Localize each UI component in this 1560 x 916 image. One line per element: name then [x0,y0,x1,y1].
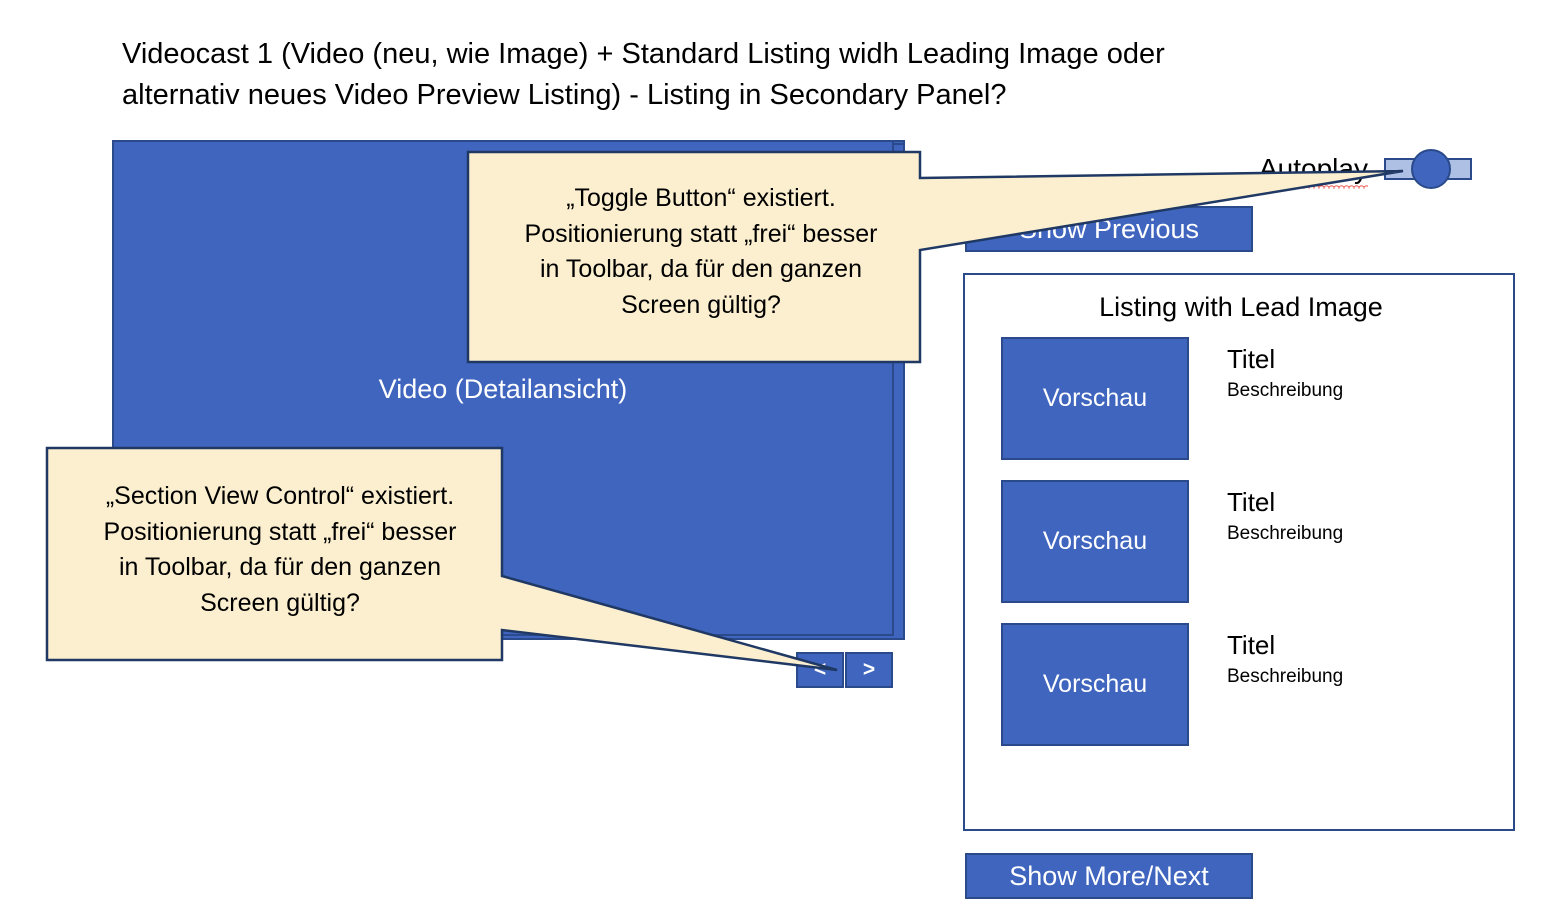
spellcheck-squiggle-icon [1259,184,1368,189]
listing-rows: Vorschau Titel Beschreibung Vorschau Tit… [1001,337,1501,766]
autoplay-label: Autoplay [1259,153,1368,185]
lead-image-thumbnail[interactable]: Vorschau [1001,623,1189,746]
video-panel-label: Video (Detailansicht) [112,374,894,405]
next-button[interactable]: > [845,652,893,688]
listing-panel: Listing with Lead Image Vorschau Titel B… [963,273,1515,831]
show-previous-button[interactable]: Show Previous [965,206,1253,252]
list-item[interactable]: Vorschau Titel Beschreibung [1001,623,1501,746]
callout-toggle-button-text: „Toggle Button“ existiert. Positionierun… [482,181,920,323]
list-item-description: Beschreibung [1227,666,1343,688]
list-item-text: Titel Beschreibung [1227,337,1343,402]
section-view-control[interactable]: < > [796,652,893,688]
autoplay-label-text: Autoplay [1259,153,1368,184]
list-item-description: Beschreibung [1227,380,1343,402]
slide-canvas: Videocast 1 (Video (neu, wie Image) + St… [0,0,1560,916]
toggle-knob[interactable] [1411,149,1451,189]
callout-section-view-control-text: „Section View Control“ existiert. Positi… [61,479,499,621]
list-item-text: Titel Beschreibung [1227,480,1343,545]
list-item-description: Beschreibung [1227,523,1343,545]
lead-image-thumbnail[interactable]: Vorschau [1001,480,1189,603]
lead-image-thumbnail[interactable]: Vorschau [1001,337,1189,460]
list-item[interactable]: Vorschau Titel Beschreibung [1001,480,1501,603]
autoplay-toggle-switch[interactable] [1384,158,1472,180]
list-item-title: Titel [1227,631,1343,660]
page-title: Videocast 1 (Video (neu, wie Image) + St… [122,34,1222,116]
show-more-next-button[interactable]: Show More/Next [965,853,1253,899]
list-item-title: Titel [1227,488,1343,517]
listing-panel-title: Listing with Lead Image [965,292,1517,323]
list-item[interactable]: Vorschau Titel Beschreibung [1001,337,1501,460]
list-item-title: Titel [1227,345,1343,374]
list-item-text: Titel Beschreibung [1227,623,1343,688]
autoplay-control[interactable]: Autoplay [1259,153,1472,185]
previous-button[interactable]: < [796,652,844,688]
